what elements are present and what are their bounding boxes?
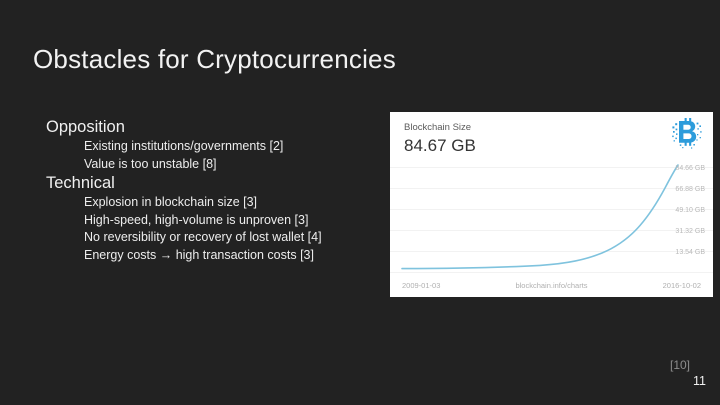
outline-subitem-high-speed: High-speed, high-volume is unproven [3] [84, 212, 376, 230]
slide-page-number: 11 [693, 373, 706, 389]
chart-header: Blockchain Size 84.67 GB [404, 122, 699, 157]
bullet-outline: Opposition Existing institutions/governm… [46, 117, 376, 264]
chart-title: Blockchain Size [404, 122, 699, 134]
page-title: Obstacles for Cryptocurrencies [33, 44, 396, 74]
x-tick-label-end: 2016-10-02 [663, 280, 701, 292]
chart-plot-area [390, 160, 713, 273]
x-tick-label-start: 2009-01-03 [402, 280, 440, 292]
chart-current-value: 84.67 GB [404, 135, 699, 157]
slide: Obstacles for Cryptocurrencies Oppositio… [0, 0, 720, 405]
outline-item-opposition: Opposition [46, 117, 376, 138]
outline-subitem-value-unstable: Value is too unstable [8] [84, 156, 376, 174]
outline-subitem-energy-costs: Energy costs → high transaction costs [3… [84, 247, 376, 265]
outline-subitem-blockchain-size: Explosion in blockchain size [3] [84, 194, 376, 212]
outline-subitem-institutions: Existing institutions/governments [2] [84, 138, 376, 156]
outline-subitem-no-reversibility: No reversibility or recovery of lost wal… [84, 229, 376, 247]
chart-x-axis-labels: 2009-01-03 blockchain.info/charts 2016-1… [402, 280, 701, 292]
chart-source-label: blockchain.info/charts [515, 280, 587, 292]
blockchain-size-chart-card: Blockchain Size 84.67 GB [390, 112, 713, 297]
citation-reference: [10] [670, 358, 690, 373]
blockchain-b-logo-icon [671, 118, 703, 151]
outline-item-technical: Technical [46, 173, 376, 194]
